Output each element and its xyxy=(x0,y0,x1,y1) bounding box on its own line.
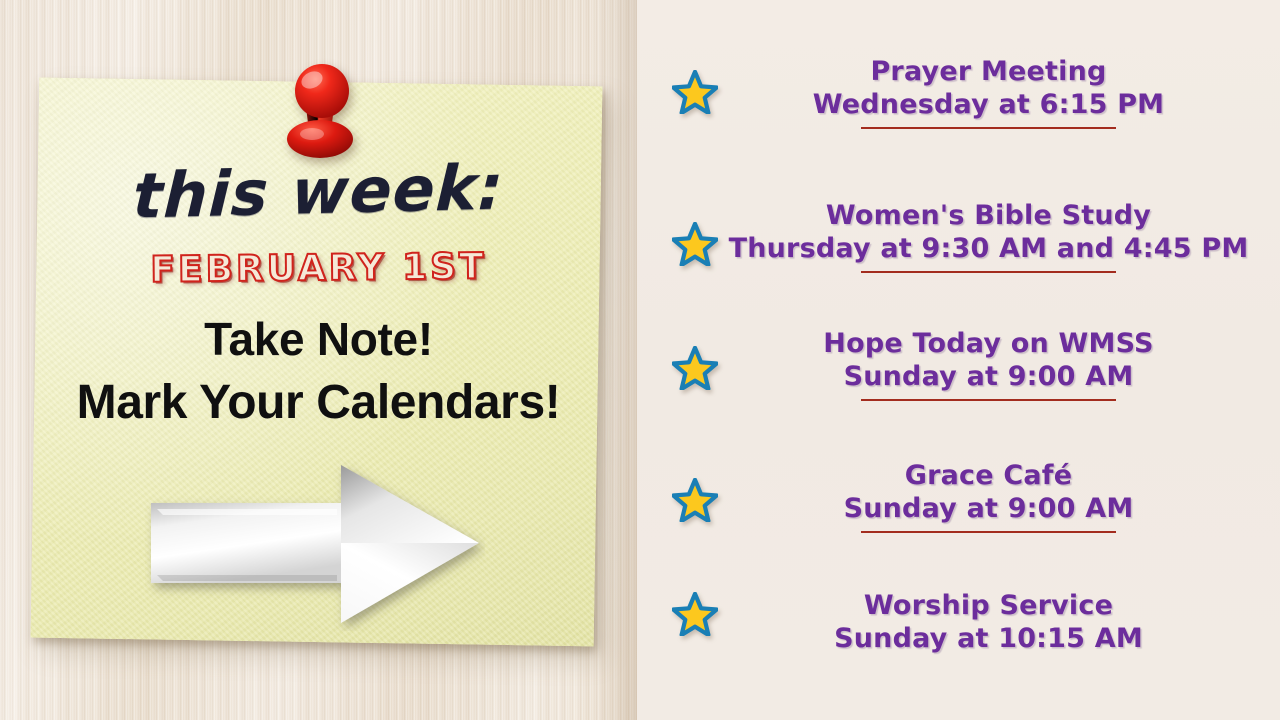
event-block: Prayer Meeting Wednesday at 6:15 PM xyxy=(697,56,1280,129)
right-arrow-icon xyxy=(145,455,485,631)
event-block: Women's Bible Study Thursday at 9:30 AM … xyxy=(697,200,1280,273)
note-date: FEBRUARY 1ST xyxy=(0,245,637,293)
note-headline: this week: xyxy=(0,147,637,236)
event-block: Hope Today on WMSS Sunday at 9:00 AM xyxy=(697,328,1280,401)
note-line-take-note: Take Note! xyxy=(0,312,637,366)
event-time: Thursday at 9:30 AM and 4:45 PM xyxy=(697,233,1280,266)
event-underline xyxy=(861,531,1116,533)
event-time: Sunday at 9:00 AM xyxy=(697,361,1280,394)
event-title: Worship Service xyxy=(697,590,1280,623)
event-time: Wednesday at 6:15 PM xyxy=(697,89,1280,122)
event-title: Prayer Meeting xyxy=(697,56,1280,89)
event-title: Hope Today on WMSS xyxy=(697,328,1280,361)
event-underline xyxy=(861,399,1116,401)
note-line-mark-your-calendars: Mark Your Calendars! xyxy=(0,375,637,430)
schedule-panel: Prayer Meeting Wednesday at 6:15 PM Wome… xyxy=(637,0,1280,720)
event-title: Women's Bible Study xyxy=(697,200,1280,233)
announcement-slide: this week: FEBRUARY 1ST Take Note! Mark … xyxy=(0,0,1280,720)
red-pushpin-icon xyxy=(272,55,368,159)
event-time: Sunday at 9:00 AM xyxy=(697,493,1280,526)
event-block: Grace Café Sunday at 9:00 AM xyxy=(697,460,1280,533)
event-block: Worship Service Sunday at 10:15 AM xyxy=(697,590,1280,656)
event-underline xyxy=(861,271,1116,273)
event-title: Grace Café xyxy=(697,460,1280,493)
sticky-note-panel: this week: FEBRUARY 1ST Take Note! Mark … xyxy=(0,0,637,720)
event-time: Sunday at 10:15 AM xyxy=(697,623,1280,656)
event-underline xyxy=(861,127,1116,129)
